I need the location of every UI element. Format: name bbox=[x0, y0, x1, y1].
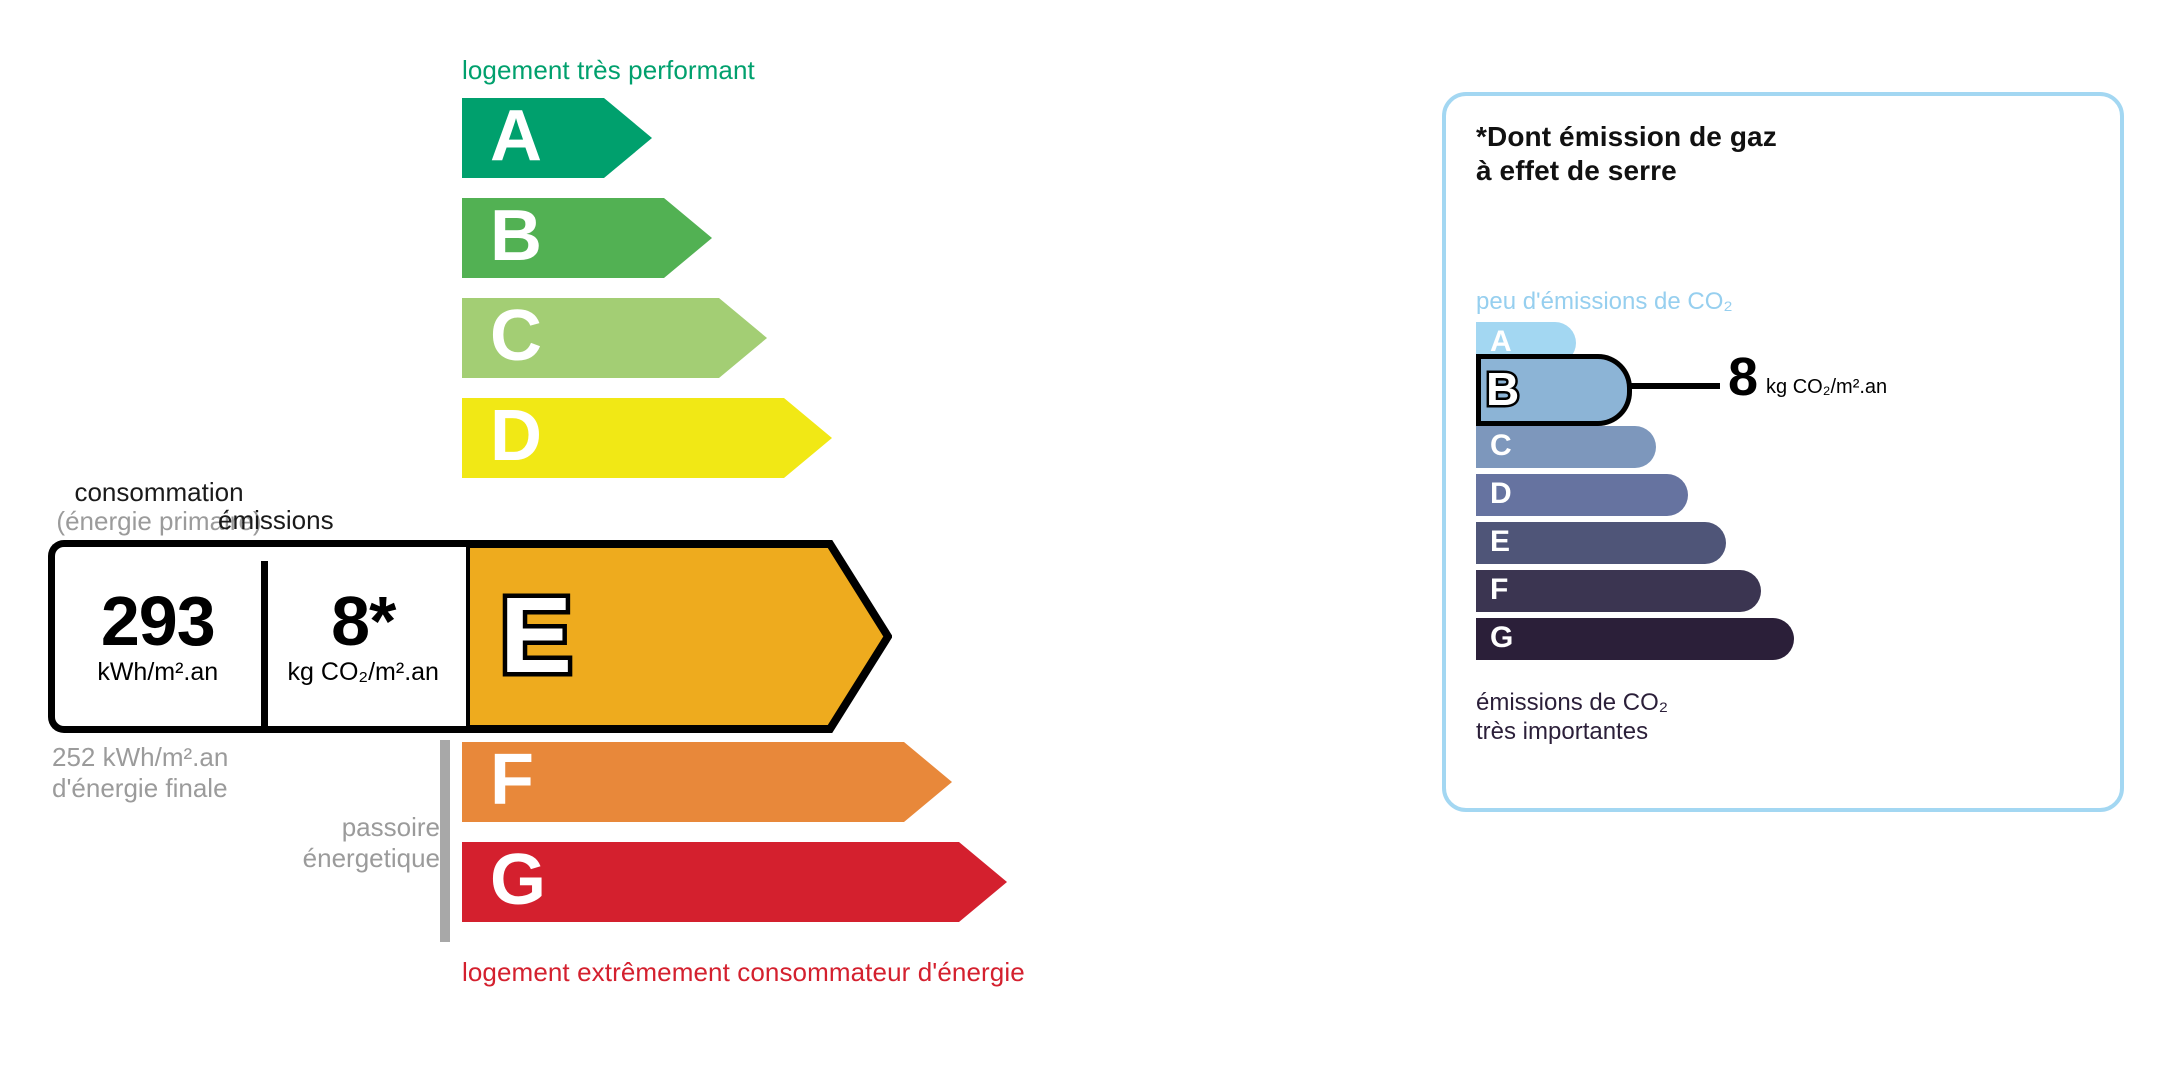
co2-title-line1: *Dont émission de gaz bbox=[1476, 120, 1777, 154]
consumption-value-cell: 293 kWh/m².an bbox=[55, 547, 261, 726]
co2-bar-fill-f: F bbox=[1476, 570, 1761, 612]
co2-bottom-line1: émissions de CO₂ bbox=[1476, 688, 1668, 717]
co2-leader-line bbox=[1628, 383, 1720, 389]
co2-bar-letter-g: G bbox=[1490, 623, 1513, 653]
co2-bar-fill-e: E bbox=[1476, 522, 1726, 564]
final-energy-line1: 252 kWh/m².an bbox=[52, 742, 228, 773]
energy-arrow-letter-d: D bbox=[462, 398, 832, 478]
consumption-label-title: consommation bbox=[74, 477, 243, 507]
energy-arrow-d: D bbox=[462, 398, 832, 478]
energy-arrow-c: C bbox=[462, 298, 767, 378]
emissions-value: 8* bbox=[331, 588, 395, 655]
co2-selected-value: 8 bbox=[1728, 350, 1758, 404]
co2-bar-c: C bbox=[1476, 426, 1656, 468]
emissions-value-cell: 8* kg CO₂/m².an bbox=[261, 547, 467, 726]
energy-arrow-letter-f: F bbox=[462, 742, 952, 822]
co2-bar-fill-c: C bbox=[1476, 426, 1656, 468]
consumption-value: 293 bbox=[101, 588, 215, 655]
energy-arrow-b: B bbox=[462, 198, 712, 278]
co2-bar-letter-e: E bbox=[1490, 527, 1510, 557]
co2-bar-letter-a: A bbox=[1490, 327, 1512, 357]
co2-selected-unit: kg CO₂/m².an bbox=[1766, 377, 1887, 397]
passoire-line2: énergetique bbox=[265, 843, 440, 874]
emissions-label: émissions bbox=[218, 505, 334, 536]
co2-bar-letter-b: B bbox=[1486, 366, 1519, 412]
co2-bar-d: D bbox=[1476, 474, 1688, 516]
co2-bar-letter-c: C bbox=[1490, 431, 1512, 461]
consumption-unit: kWh/m².an bbox=[97, 660, 218, 685]
energy-arrow-g: G bbox=[462, 842, 1007, 922]
values-divider bbox=[261, 561, 268, 726]
co2-bar-fill-d: D bbox=[1476, 474, 1688, 516]
co2-panel-title: *Dont émission de gaz à effet de serre bbox=[1476, 120, 1777, 187]
energy-performance-scale: logement très performant ABCDEFG consomm… bbox=[0, 0, 1300, 1079]
passoire-bracket-bar bbox=[440, 740, 450, 942]
co2-bar-letter-d: D bbox=[1490, 479, 1512, 509]
energy-arrow-letter-b: B bbox=[462, 198, 712, 278]
co2-bottom-caption: émissions de CO₂ très importantes bbox=[1476, 688, 1668, 747]
selected-values-box: 293 kWh/m².an 8* kg CO₂/m².an bbox=[48, 540, 466, 733]
passoire-note: passoire énergetique bbox=[265, 812, 440, 874]
co2-bar-fill-b: B bbox=[1476, 354, 1632, 426]
co2-bar-fill-g: G bbox=[1476, 618, 1794, 660]
co2-bar-b: B bbox=[1476, 354, 1632, 426]
energy-arrow-letter-g: G bbox=[462, 842, 1007, 922]
co2-bar-f: F bbox=[1476, 570, 1761, 612]
final-energy-note: 252 kWh/m².an d'énergie finale bbox=[52, 742, 228, 804]
co2-title-line2: à effet de serre bbox=[1476, 154, 1777, 188]
energy-top-caption: logement très performant bbox=[462, 55, 755, 86]
co2-emissions-panel: *Dont émission de gaz à effet de serre p… bbox=[1442, 92, 2124, 812]
energy-arrow-letter-a: A bbox=[462, 98, 652, 178]
energy-arrow-a: A bbox=[462, 98, 652, 178]
co2-top-caption: peu d'émissions de CO₂ bbox=[1476, 288, 1733, 316]
energy-arrow-f: F bbox=[462, 742, 952, 822]
co2-bar-e: E bbox=[1476, 522, 1726, 564]
co2-bar-letter-f: F bbox=[1490, 575, 1508, 605]
final-energy-line2: d'énergie finale bbox=[52, 773, 228, 804]
emissions-unit: kg CO₂/m².an bbox=[288, 660, 439, 685]
energy-arrow-e: E bbox=[462, 540, 892, 733]
co2-selected-value-group: 8 kg CO₂/m².an bbox=[1728, 350, 1887, 404]
energy-arrow-letter-c: C bbox=[462, 298, 767, 378]
energy-arrow-letter-e: E bbox=[462, 540, 892, 733]
co2-bottom-line2: très importantes bbox=[1476, 717, 1668, 746]
passoire-line1: passoire bbox=[265, 812, 440, 843]
co2-bar-g: G bbox=[1476, 618, 1794, 660]
energy-bottom-caption: logement extrêmement consommateur d'éner… bbox=[462, 957, 1025, 988]
